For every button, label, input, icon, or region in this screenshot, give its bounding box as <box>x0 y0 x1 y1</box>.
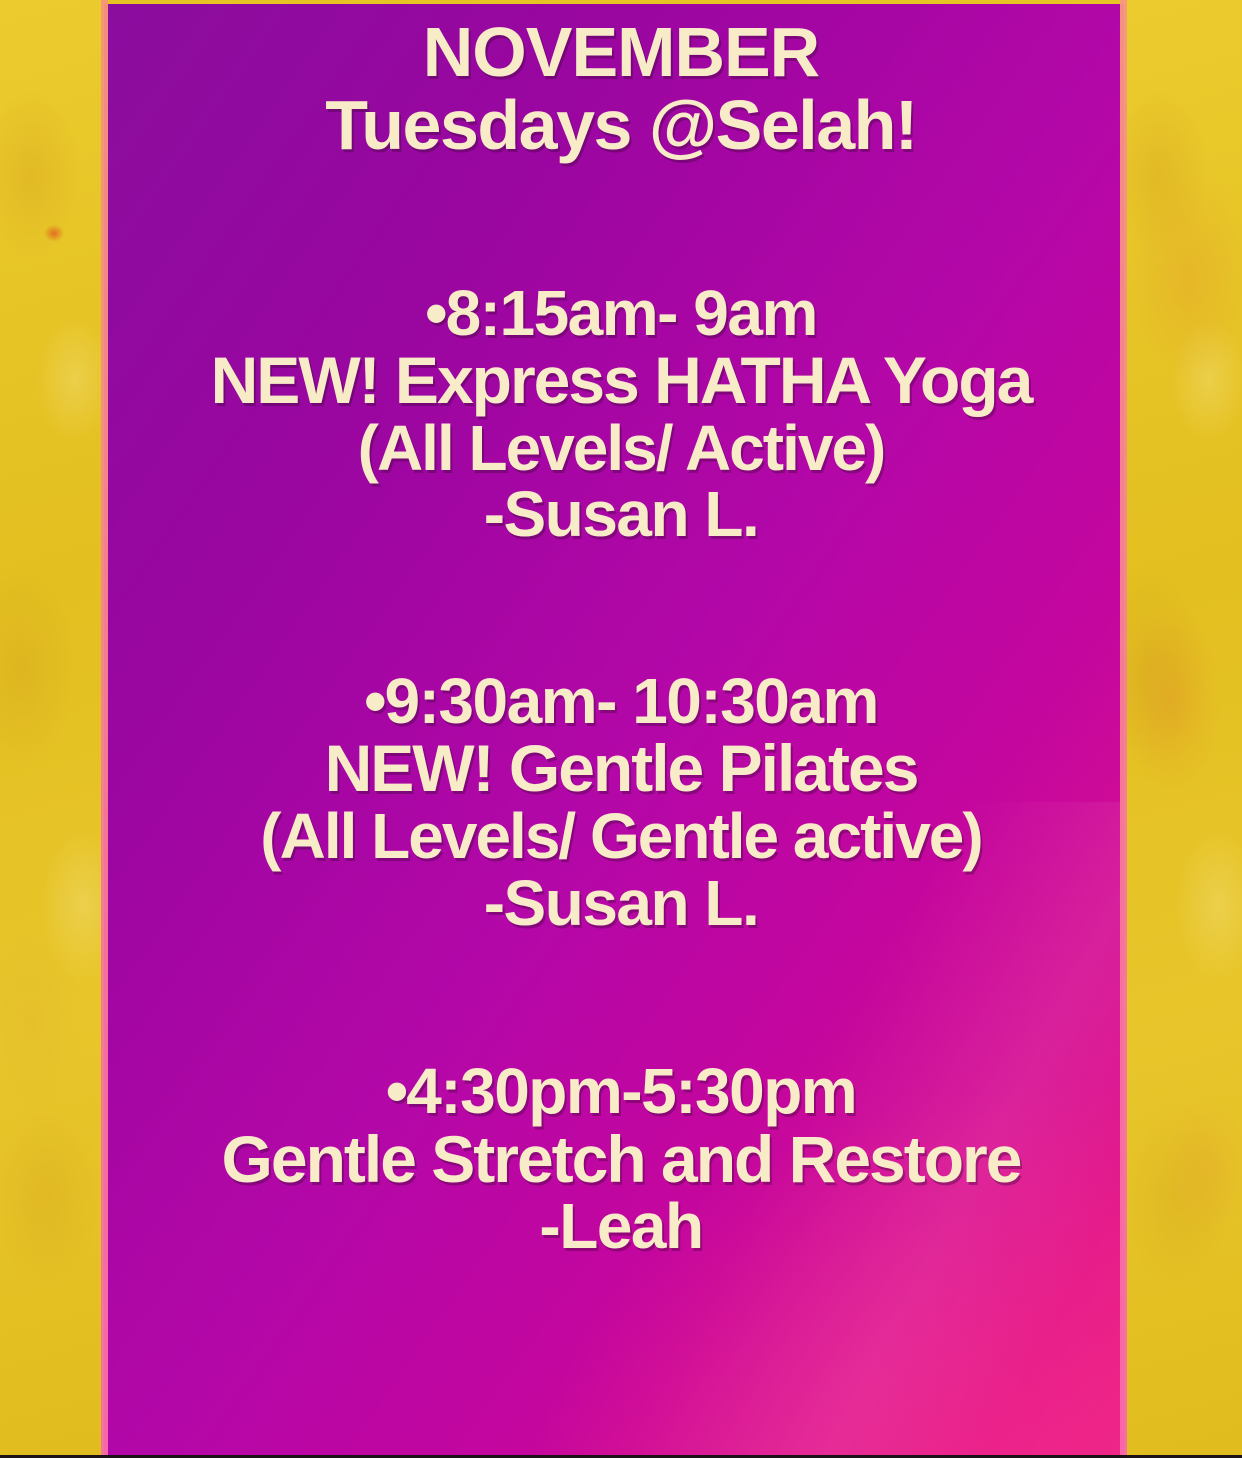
class-2-instructor: -Susan L. <box>0 870 1242 937</box>
class-block-2: •9:30am- 10:30am NEW! Gentle Pilates (Al… <box>0 668 1242 936</box>
class-2-title: NEW! Gentle Pilates <box>0 734 1242 803</box>
class-2-time-line: •9:30am- 10:30am <box>0 668 1242 735</box>
class-3-time-line: •4:30pm-5:30pm <box>0 1058 1242 1125</box>
poster-content: NOVEMBER Tuesdays @Selah! •8:15am- 9am N… <box>0 0 1242 1458</box>
poster-title-subtitle: Tuesdays @Selah! <box>0 89 1242 162</box>
schedule-poster: NOVEMBER Tuesdays @Selah! •8:15am- 9am N… <box>0 0 1242 1458</box>
bullet-icon: • <box>386 1055 406 1127</box>
class-1-time: 8:15am- 9am <box>446 277 817 349</box>
class-1-title: NEW! Express HATHA Yoga <box>0 346 1242 415</box>
class-2-level: (All Levels/ Gentle active) <box>0 803 1242 870</box>
class-3-time: 4:30pm-5:30pm <box>406 1055 856 1127</box>
class-1-instructor: -Susan L. <box>0 481 1242 548</box>
class-2-time: 9:30am- 10:30am <box>385 665 878 737</box>
class-block-1: •8:15am- 9am NEW! Express HATHA Yoga (Al… <box>0 280 1242 548</box>
poster-title-month: NOVEMBER <box>0 16 1242 89</box>
bullet-icon: • <box>364 665 384 737</box>
class-1-time-line: •8:15am- 9am <box>0 280 1242 347</box>
class-3-instructor: -Leah <box>0 1193 1242 1260</box>
bullet-icon: • <box>425 277 445 349</box>
class-3-title: Gentle Stretch and Restore <box>0 1125 1242 1194</box>
class-1-level: (All Levels/ Active) <box>0 415 1242 482</box>
class-block-3: •4:30pm-5:30pm Gentle Stretch and Restor… <box>0 1058 1242 1260</box>
